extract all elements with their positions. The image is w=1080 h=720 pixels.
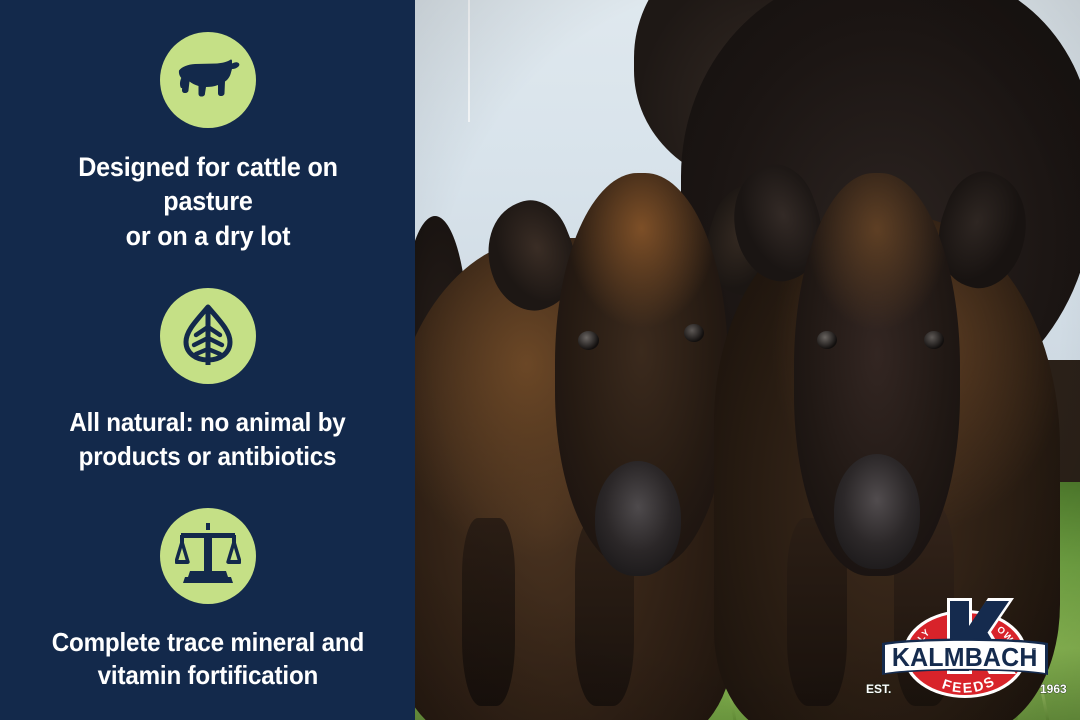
scales-icon	[175, 521, 241, 590]
features-panel: Designed for cattle on pasture or on a d…	[0, 0, 415, 720]
feature-item-fortification: Complete trace mineral and vitamin forti…	[0, 508, 415, 693]
calf-right-muzzle	[834, 454, 920, 569]
feature-icon-badge	[160, 288, 256, 384]
feature-item-cattle: Designed for cattle on pasture or on a d…	[0, 32, 415, 254]
logo-est-year: 1963	[1040, 682, 1067, 696]
feature-icon-badge	[160, 508, 256, 604]
feature-item-all-natural: All natural: no animal by products or an…	[0, 288, 415, 473]
cow-icon	[175, 54, 241, 105]
logo-wordmark: KALMBACH	[892, 644, 1038, 673]
registered-trademark-icon: ®	[1032, 643, 1038, 652]
marketing-banner: Designed for cattle on pasture or on a d…	[0, 0, 1080, 720]
feature-icon-badge	[160, 32, 256, 128]
calf-right-eye	[924, 331, 944, 349]
leaf-icon	[180, 303, 236, 370]
feature-text: Complete trace mineral and vitamin forti…	[51, 626, 363, 693]
feature-text: All natural: no animal by products or an…	[69, 406, 345, 473]
logo-est-label: EST.	[866, 682, 891, 696]
calf-left-muzzle	[595, 461, 681, 576]
kalmbach-feeds-logo: FAMILY OWNED KALMBACH FEEDS ® EST. 1963	[862, 596, 1068, 708]
feature-text: Designed for cattle on pasture or on a d…	[40, 150, 375, 254]
calf-left-eye	[578, 331, 599, 350]
